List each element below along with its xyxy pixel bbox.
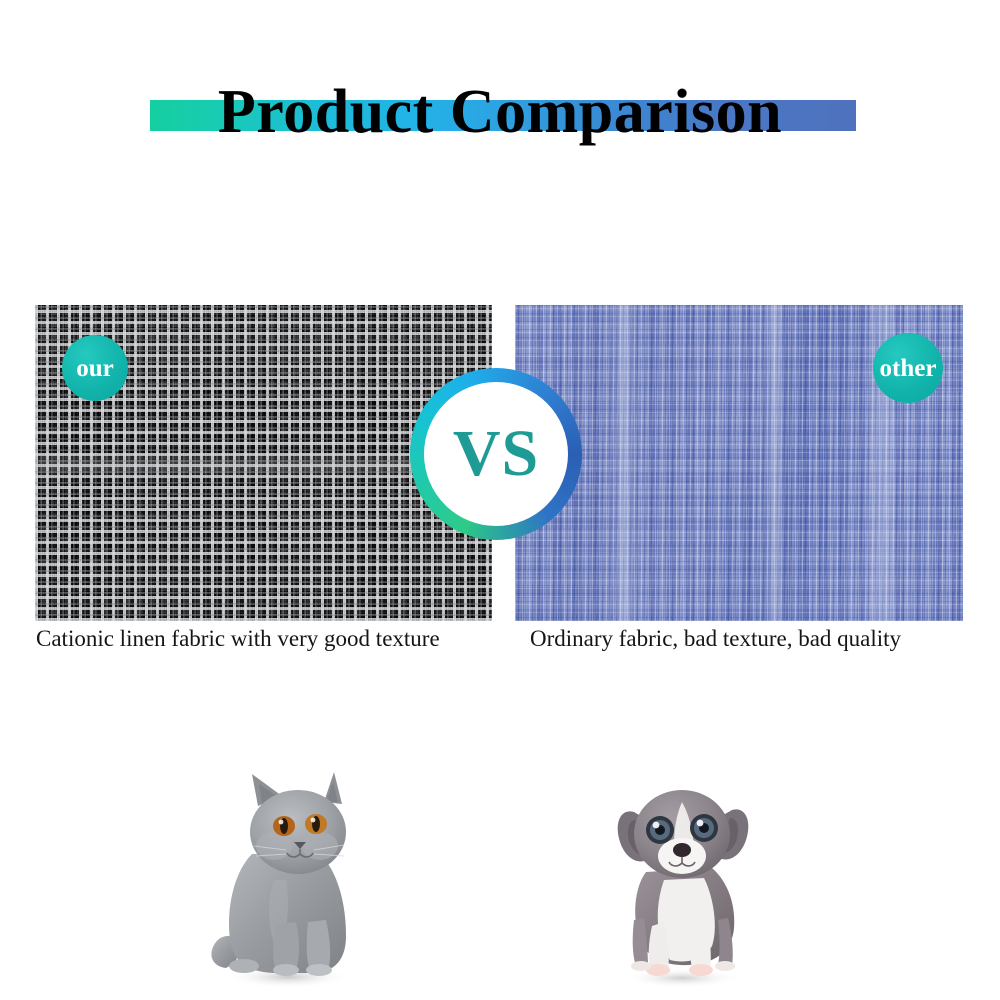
cat-hind-paw bbox=[229, 959, 259, 973]
page-title-block: Product Comparison bbox=[0, 72, 1000, 152]
vs-badge-inner: VS bbox=[424, 382, 568, 526]
dog-nose bbox=[673, 843, 691, 857]
vs-label: VS bbox=[453, 421, 539, 487]
cat-eye-glint-left bbox=[279, 820, 284, 825]
page-title: Product Comparison bbox=[0, 72, 1000, 152]
dog-hind-paw-right bbox=[715, 961, 735, 971]
dog-hind-paw-left bbox=[631, 961, 651, 971]
cat-paw-left bbox=[273, 964, 299, 976]
our-fabric-caption: Cationic linen fabric with very good tex… bbox=[36, 626, 440, 652]
dog-paw-right bbox=[689, 964, 713, 976]
dog-eye-glint-left bbox=[653, 822, 660, 829]
pets-row bbox=[0, 750, 1000, 1000]
chihuahua-puppy-photo bbox=[592, 768, 772, 990]
vs-badge: VS bbox=[410, 368, 582, 540]
cat-front-leg-right bbox=[307, 920, 330, 970]
blue-fabric-streak bbox=[761, 305, 787, 621]
other-fabric-caption: Ordinary fabric, bad texture, bad qualit… bbox=[530, 626, 901, 652]
blue-fabric-streak bbox=[607, 305, 641, 621]
grey-cat-photo bbox=[196, 762, 376, 992]
our-badge: our bbox=[62, 335, 128, 401]
cat-cheek-right bbox=[302, 832, 338, 860]
dog-shadow bbox=[624, 968, 740, 988]
dog-eye-glint-right bbox=[697, 820, 704, 827]
cat-paw-right bbox=[306, 964, 332, 976]
cat-head bbox=[250, 790, 346, 874]
cat-eye-glint-right bbox=[311, 818, 316, 823]
other-badge: other bbox=[873, 333, 943, 403]
cat-front-leg-left bbox=[273, 922, 299, 970]
